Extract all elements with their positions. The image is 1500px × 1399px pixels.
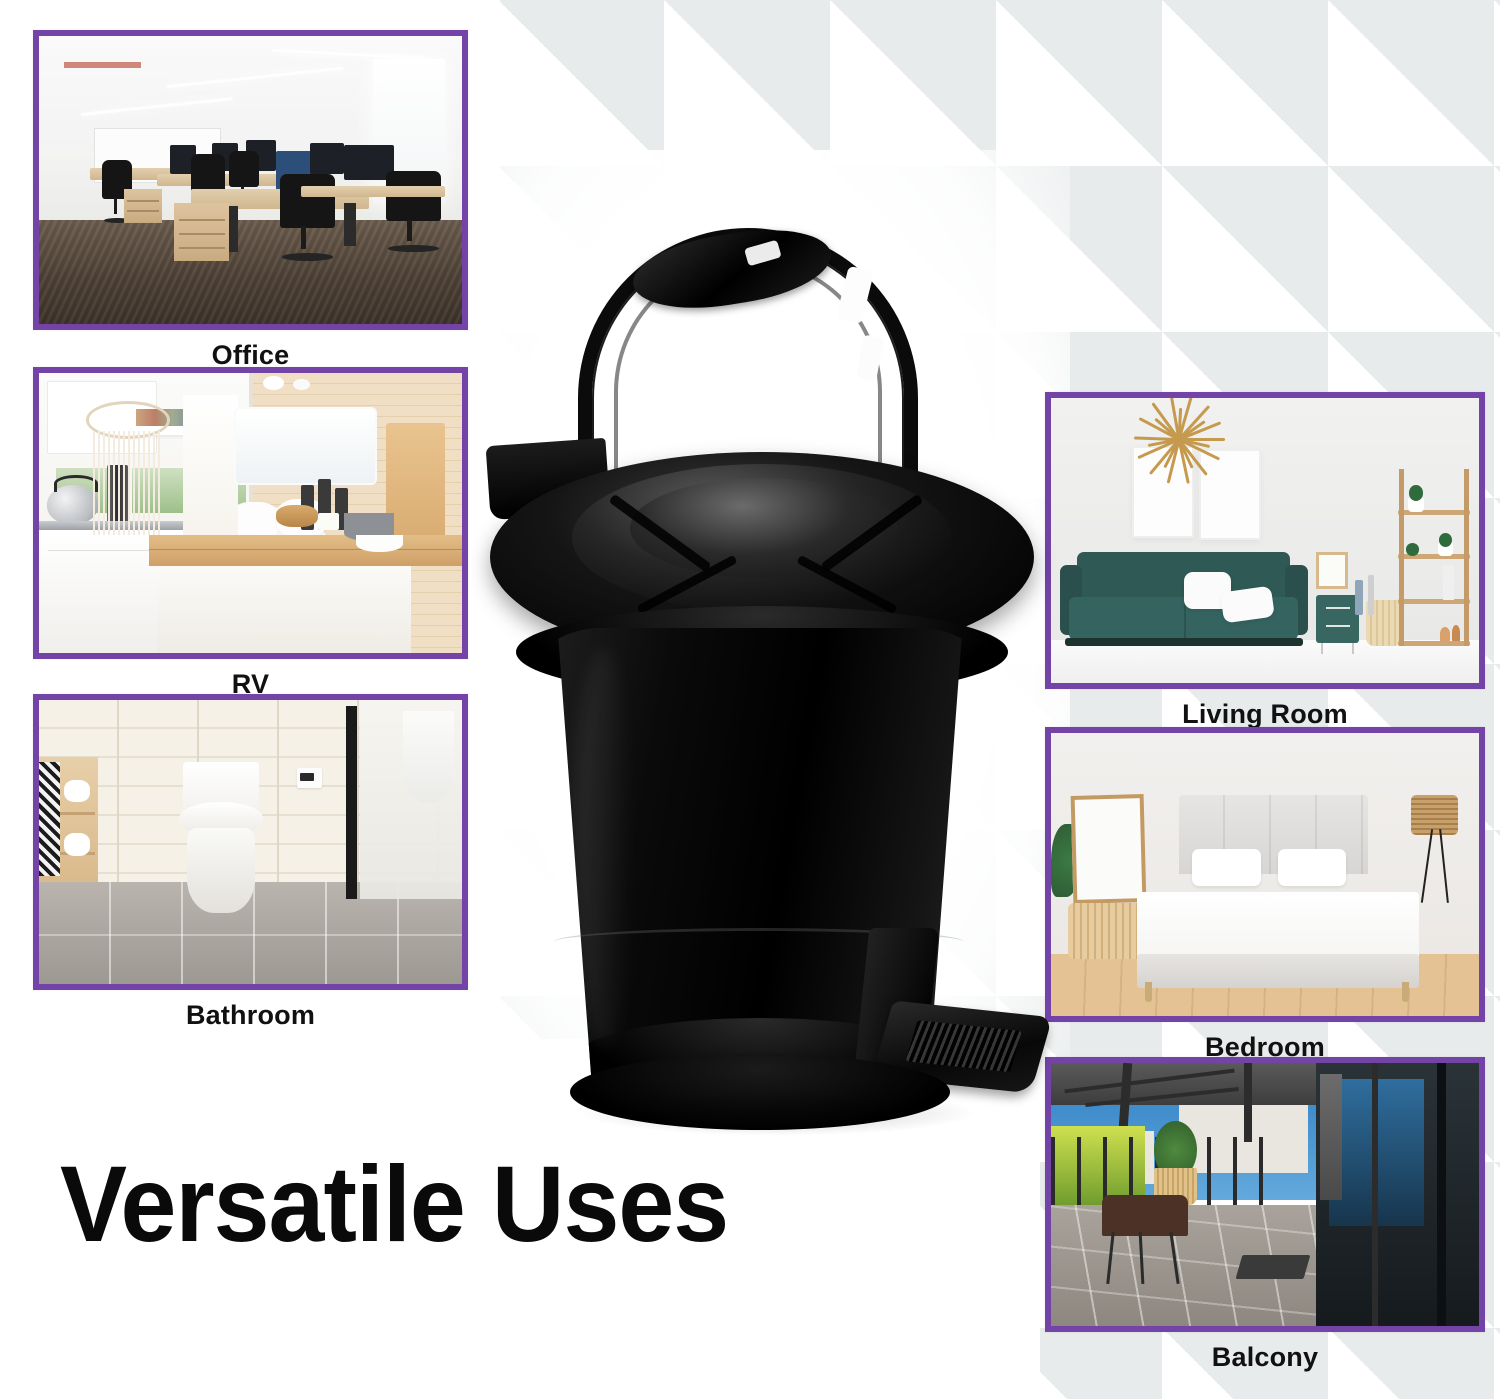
balcony-scene [1051, 1063, 1479, 1326]
panel-balcony-label: Balcony [1045, 1337, 1485, 1378]
product-image-trash-bin [482, 228, 1042, 1108]
panel-bathroom-label: Bathroom [33, 995, 468, 1036]
office-scene [39, 36, 462, 324]
infographic-stage: Office [0, 0, 1500, 1399]
panel-living-room-image [1045, 392, 1485, 689]
panel-living-room: Living Room [1045, 392, 1485, 735]
page-title: Versatile Uses [60, 1150, 728, 1258]
panel-bathroom: Bathroom [33, 694, 468, 1036]
panel-bathroom-image [33, 694, 468, 990]
panel-bedroom-image [1045, 727, 1485, 1022]
bathroom-scene [39, 700, 462, 984]
rv-scene [39, 373, 462, 653]
panel-bedroom: Bedroom [1045, 727, 1485, 1068]
bin-body-highlight [574, 648, 634, 1048]
bedroom-scene [1051, 733, 1479, 1016]
panel-office-image [33, 30, 468, 330]
panel-rv-image [33, 367, 468, 659]
bin-lid-center [630, 478, 898, 578]
chandelier-icon [1128, 404, 1231, 472]
panel-balcony-image [1045, 1057, 1485, 1332]
panel-rv: RV [33, 367, 468, 705]
bin-shadow [578, 1090, 978, 1136]
panel-office: Office [33, 30, 468, 376]
living-room-scene [1051, 398, 1479, 683]
panel-balcony: Balcony [1045, 1057, 1485, 1378]
